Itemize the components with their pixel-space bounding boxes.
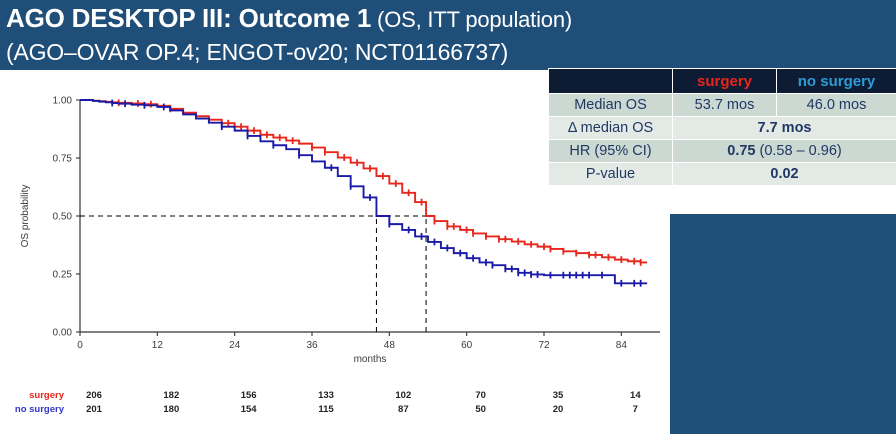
survival-curve-surgery	[80, 100, 647, 262]
risk-row-surgery: surgery206182156133102703514	[0, 390, 672, 405]
chart-svg: 0.000.250.500.751.00012243648607284month…	[0, 78, 672, 378]
x-tick-label: 36	[306, 340, 318, 351]
risk-count: 7	[615, 404, 655, 415]
risk-count: 180	[151, 404, 191, 415]
title-paren-close: )	[565, 7, 572, 32]
stats-header-no-surgery: no surgery	[777, 69, 896, 94]
x-tick-label: 72	[538, 340, 550, 351]
stats-value-hr-ci: (0.58 – 0.96)	[755, 143, 841, 159]
risk-count: 70	[461, 390, 501, 401]
risk-count: 201	[74, 404, 114, 415]
risk-label-no-surgery: no surgery	[0, 404, 64, 415]
risk-count: 87	[383, 404, 423, 415]
y-tick-label: 1.00	[53, 96, 73, 107]
y-tick-label: 0.50	[53, 212, 73, 223]
risk-count: 50	[461, 404, 501, 415]
x-tick-label: 84	[616, 340, 628, 351]
slide-root: AGO DESKTOP III: Outcome 1 (OS, ITT popu…	[0, 0, 896, 434]
y-tick-label: 0.75	[53, 154, 73, 165]
risk-count: 20	[538, 404, 578, 415]
x-tick-label: 24	[229, 340, 241, 351]
stats-value-hr-point: 0.75	[727, 143, 755, 159]
kaplan-meier-chart: 0.000.250.500.751.00012243648607284month…	[0, 78, 672, 378]
stats-value-median-os-no-surgery: 46.0 mos	[777, 94, 896, 117]
y-axis-title: OS probability	[20, 185, 31, 248]
risk-count: 182	[151, 390, 191, 401]
decorative-corner-block	[670, 214, 896, 434]
risk-count: 133	[306, 390, 346, 401]
risk-count: 206	[74, 390, 114, 401]
x-tick-label: 60	[461, 340, 473, 351]
x-axis-title: months	[354, 354, 387, 365]
title-banner: AGO DESKTOP III: Outcome 1 (OS, ITT popu…	[0, 0, 896, 70]
numbers-at-risk-table: surgery206182156133102703514 no surgery2…	[0, 390, 672, 430]
risk-count: 115	[306, 404, 346, 415]
stats-value-median-os-surgery: 53.7 mos	[673, 94, 777, 117]
risk-count: 14	[615, 390, 655, 401]
y-tick-label: 0.25	[53, 270, 73, 281]
stats-value-delta-median-os: 7.7 mos	[673, 117, 896, 140]
risk-count: 154	[229, 404, 269, 415]
risk-count: 102	[383, 390, 423, 401]
risk-count: 35	[538, 390, 578, 401]
x-tick-label: 48	[384, 340, 396, 351]
x-tick-label: 12	[152, 340, 164, 351]
survival-curve-no-surgery	[80, 100, 647, 283]
risk-label-surgery: surgery	[0, 390, 64, 401]
y-tick-label: 0.00	[53, 328, 73, 339]
page-title: AGO DESKTOP III: Outcome 1 (OS, ITT popu…	[6, 2, 896, 36]
risk-row-no-surgery: no surgery2011801541158750207	[0, 404, 672, 419]
stats-value-hr: 0.75 (0.58 – 0.96)	[673, 140, 896, 163]
title-main: AGO DESKTOP III: Outcome 1	[6, 3, 371, 33]
title-os: OS,	[384, 7, 421, 32]
x-tick-label: 0	[77, 340, 83, 351]
page-subtitle: (AGO–OVAR OP.4; ENGOT-ov20; NCT01166737)	[6, 36, 896, 69]
title-itt: ITT population	[422, 7, 565, 32]
title-paren-open: (	[371, 7, 384, 32]
stats-value-p-value: 0.02	[673, 163, 896, 186]
risk-count: 156	[229, 390, 269, 401]
stats-header-surgery: surgery	[673, 69, 777, 94]
